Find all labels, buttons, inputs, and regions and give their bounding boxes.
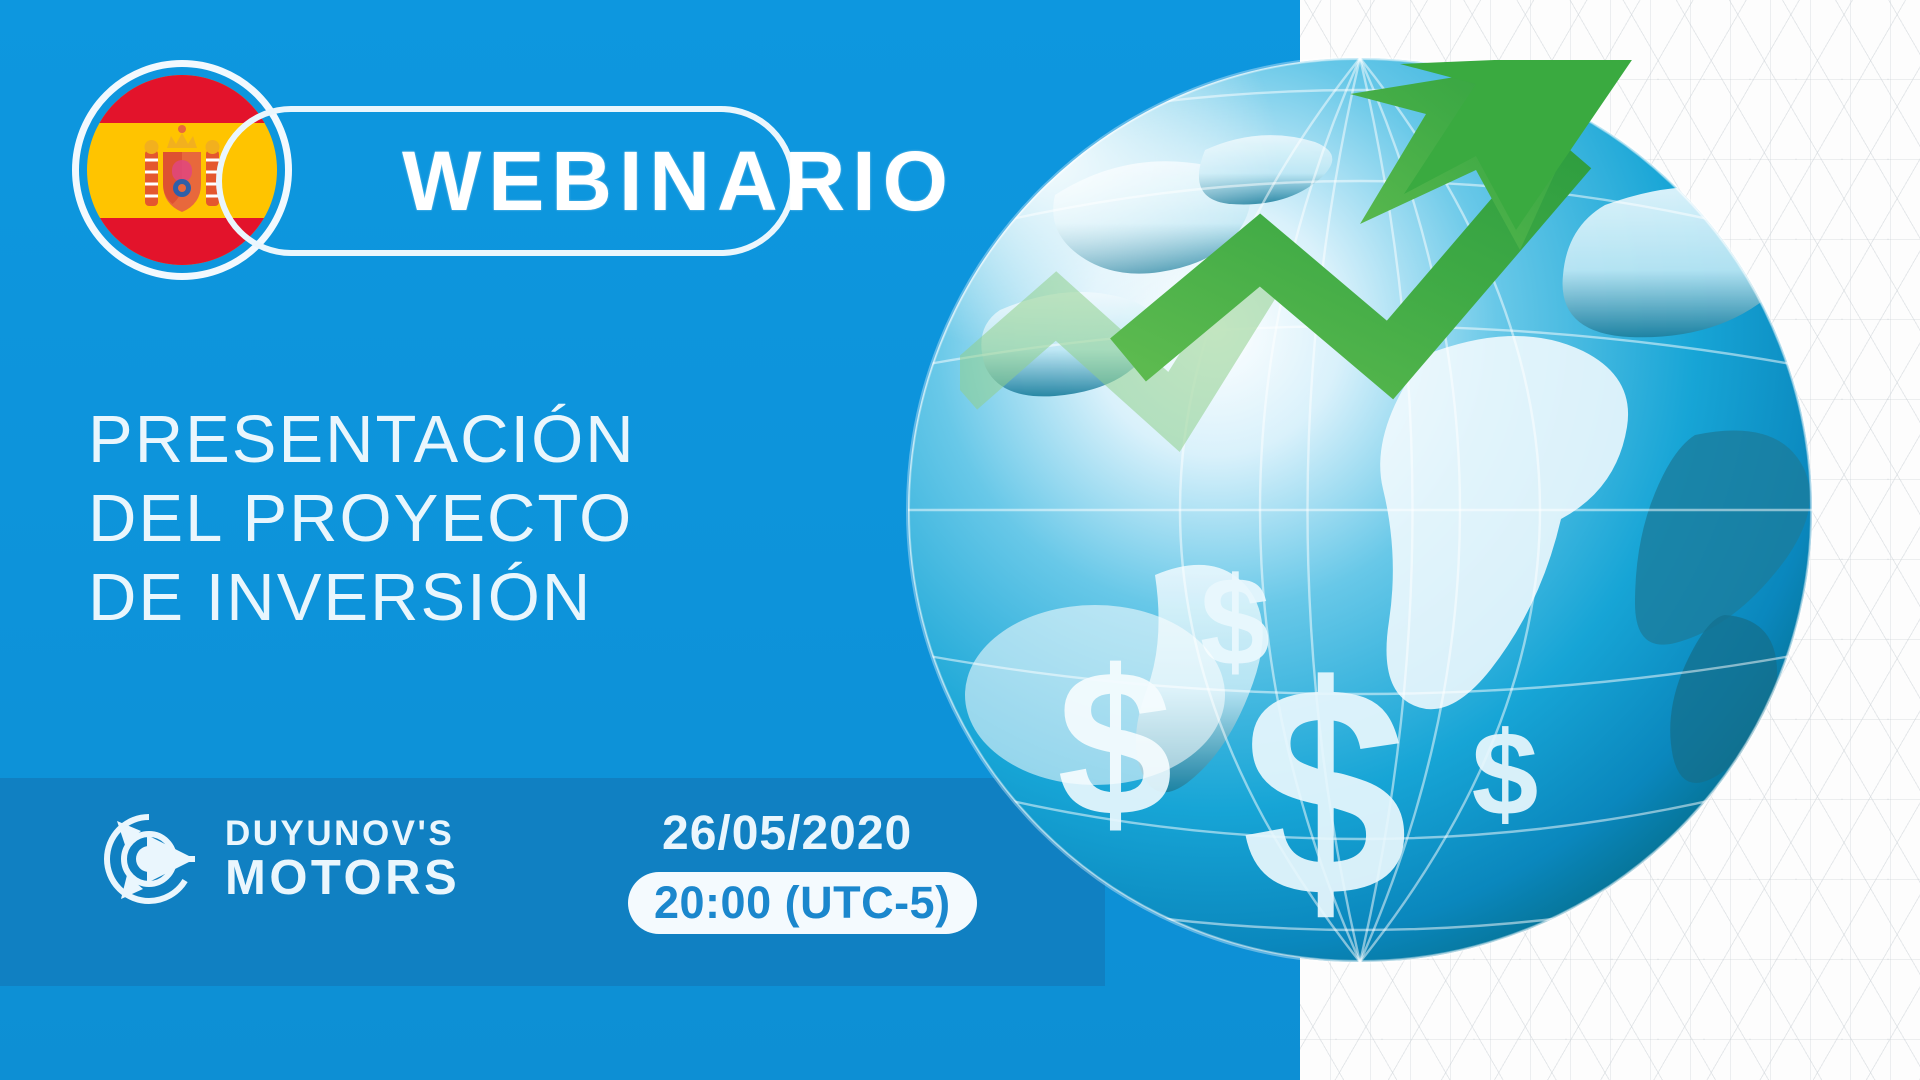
page-title: WEBINARIO [402,139,955,223]
currency-symbol: $ [1472,707,1539,841]
brand-logo-text: DUYUNOV'S MOTORS [225,816,460,903]
subtitle-block: PRESENTACIÓN DEL PROYECTO DE INVERSIÓN [88,400,828,637]
flag-stripe-top [87,75,277,123]
coat-of-arms-icon [139,122,225,218]
brand-line-2: MOTORS [225,854,460,903]
brand-logo: DUYUNOV'S MOTORS [95,805,460,913]
event-time-badge: 20:00 (UTC-5) [628,872,977,934]
duyunov-motors-logo-icon [95,805,203,913]
event-date: 26/05/2020 [662,806,912,861]
subtitle-line-2: DEL PROYECTO [88,479,828,558]
webinar-pill: WEBINARIO [216,106,796,256]
subtitle-line-1: PRESENTACIÓN [88,400,828,479]
brand-line-1: DUYUNOV'S [225,816,460,851]
subtitle-line-3: DE INVERSIÓN [88,558,828,637]
webinar-banner: $ $ $ $ [0,0,1920,1080]
growth-arrow-icon [960,60,1860,620]
